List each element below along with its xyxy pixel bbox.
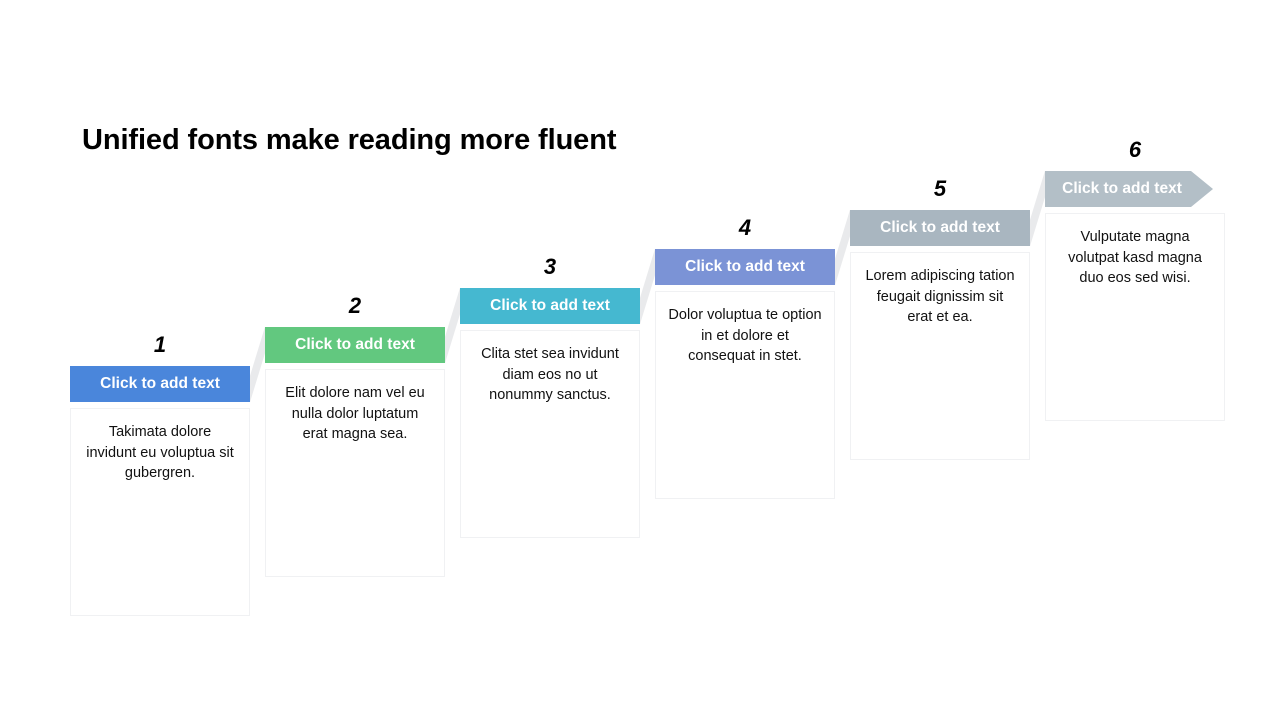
step-header-1[interactable]: Click to add text [70, 366, 250, 402]
step-header-5[interactable]: Click to add text [850, 210, 1030, 246]
step-header-6[interactable]: Click to add text [1045, 171, 1213, 207]
step-number-4: 4 [655, 217, 835, 239]
step-number-3: 3 [460, 256, 640, 278]
slide-canvas: Unified fonts make reading more fluent 1… [0, 0, 1280, 720]
step-header-label-5: Click to add text [880, 220, 1000, 236]
step-number-5: 5 [850, 178, 1030, 200]
step-body-1[interactable]: Takimata dolore invidunt eu voluptua sit… [70, 408, 250, 616]
step-header-label-3: Click to add text [490, 298, 610, 314]
step-header-label-4: Click to add text [685, 259, 805, 275]
step-header-3[interactable]: Click to add text [460, 288, 640, 324]
step-body-6[interactable]: Vulputate magna volutpat kasd magna duo … [1045, 213, 1225, 421]
step-body-2[interactable]: Elit dolore nam vel eu nulla dolor lupta… [265, 369, 445, 577]
step-header-label-6: Click to add text [1062, 181, 1182, 197]
step-header-4[interactable]: Click to add text [655, 249, 835, 285]
step-number-6: 6 [1045, 139, 1225, 161]
step-body-5[interactable]: Lorem adipiscing tation feugait dignissi… [850, 252, 1030, 460]
step-header-label-2: Click to add text [295, 337, 415, 353]
step-header-label-1: Click to add text [100, 376, 220, 392]
step-number-1: 1 [70, 334, 250, 356]
step-body-3[interactable]: Clita stet sea invidunt diam eos no ut n… [460, 330, 640, 538]
step-body-4[interactable]: Dolor voluptua te option in et dolore et… [655, 291, 835, 499]
process-chevron-diagram: 1Click to add textTakimata dolore invidu… [0, 0, 1280, 720]
step-header-2[interactable]: Click to add text [265, 327, 445, 363]
step-number-2: 2 [265, 295, 445, 317]
